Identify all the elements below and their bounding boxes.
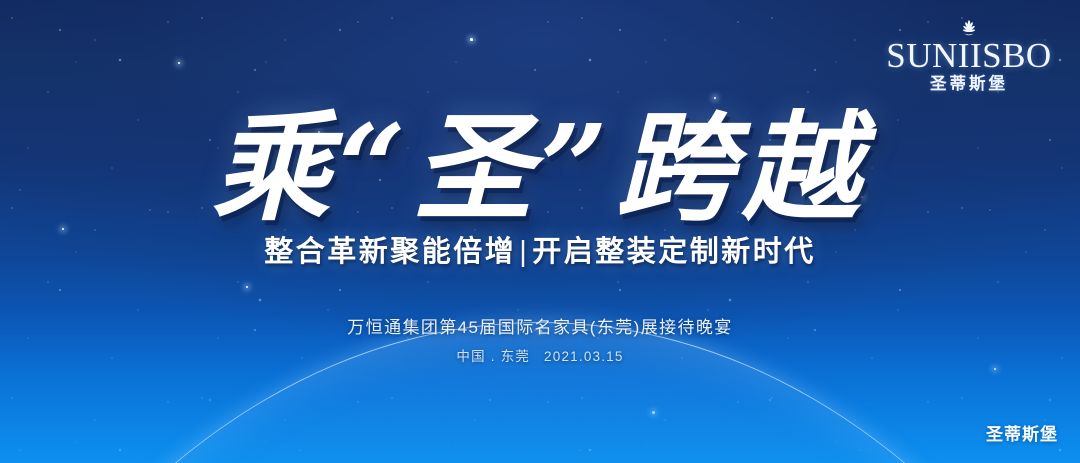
- event-location: 中国 . 东莞: [456, 349, 530, 364]
- glow-star: [246, 286, 248, 288]
- glow-star: [178, 62, 180, 64]
- brand-watermark: 圣蒂斯堡: [986, 420, 1058, 445]
- subtitle-left: 整合革新聚能倍增: [264, 236, 516, 268]
- glow-star: [652, 411, 655, 414]
- logo-wordmark: SUNIISBO: [886, 38, 1052, 73]
- event-date: 2021.03.15: [544, 349, 624, 364]
- subtitle: 整合革新聚能倍增|开启整装定制新时代: [0, 228, 1080, 270]
- horizon-arc: [0, 322, 1080, 463]
- event-meta: 中国 . 东莞2021.03.15: [0, 345, 1080, 365]
- page-title: 乘“圣”跨越: [0, 72, 1080, 243]
- glow-star: [994, 368, 996, 370]
- subtitle-right: 开启整装定制新时代: [532, 236, 816, 268]
- lotus-flower-icon: [954, 20, 984, 37]
- glow-star: [470, 38, 473, 41]
- subtitle-divider: |: [516, 236, 532, 268]
- event-banner: SUNIISBO 圣蒂斯堡 乘“圣”跨越 整合革新聚能倍增|开启整装定制新时代 …: [0, 0, 1080, 463]
- event-description: 万恒通集团第45届国际名家具(东莞)展接待晚宴: [0, 313, 1080, 338]
